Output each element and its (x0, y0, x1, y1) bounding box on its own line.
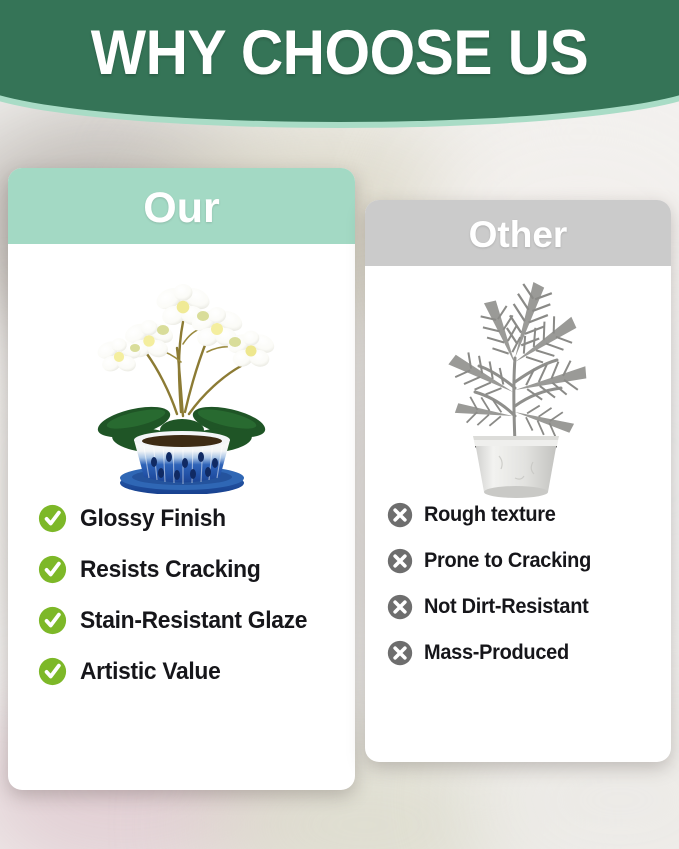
feature-label: Glossy Finish (80, 505, 226, 533)
product-image-our (8, 244, 355, 496)
card-body-other: Rough texture Prone to Cracking Not Dirt… (365, 266, 671, 666)
feature-item: Resists Cracking (38, 555, 355, 584)
check-circle-icon (38, 504, 67, 533)
feature-label: Resists Cracking (80, 556, 260, 584)
feature-label: Mass-Produced (424, 641, 569, 665)
feature-list-other: Rough texture Prone to Cracking Not Dirt… (365, 498, 671, 666)
feature-label: Rough texture (424, 503, 556, 527)
x-circle-icon (387, 594, 413, 620)
x-circle-icon (387, 640, 413, 666)
x-circle-icon (387, 548, 413, 574)
feature-item: Not Dirt-Resistant (387, 594, 671, 620)
feature-label: Not Dirt-Resistant (424, 595, 588, 619)
feature-label: Prone to Cracking (424, 549, 591, 573)
feature-item: Prone to Cracking (387, 548, 671, 574)
feature-list-our: Glossy Finish Resists Cracking Stain-Res… (8, 496, 355, 686)
feature-item: Mass-Produced (387, 640, 671, 666)
comparison-card-other: Other (365, 200, 671, 762)
feature-label: Stain-Resistant Glaze (80, 607, 307, 635)
check-circle-icon (38, 657, 67, 686)
header-banner: WHY CHOOSE US (0, 0, 679, 124)
check-circle-icon (38, 606, 67, 635)
card-header-our: Our (8, 168, 355, 244)
x-circle-icon (387, 502, 413, 528)
check-circle-icon (38, 555, 67, 584)
feature-item: Stain-Resistant Glaze (38, 606, 355, 635)
card-body-our: Glossy Finish Resists Cracking Stain-Res… (8, 244, 355, 686)
feature-item: Artistic Value (38, 657, 355, 686)
comparison-card-our: Our (8, 168, 355, 790)
feature-item: Rough texture (387, 502, 671, 528)
page-title: WHY CHOOSE US (24, 22, 655, 85)
feature-item: Glossy Finish (38, 504, 355, 533)
feature-label: Artistic Value (80, 658, 220, 686)
product-image-other (365, 266, 671, 498)
card-header-other: Other (365, 200, 671, 266)
